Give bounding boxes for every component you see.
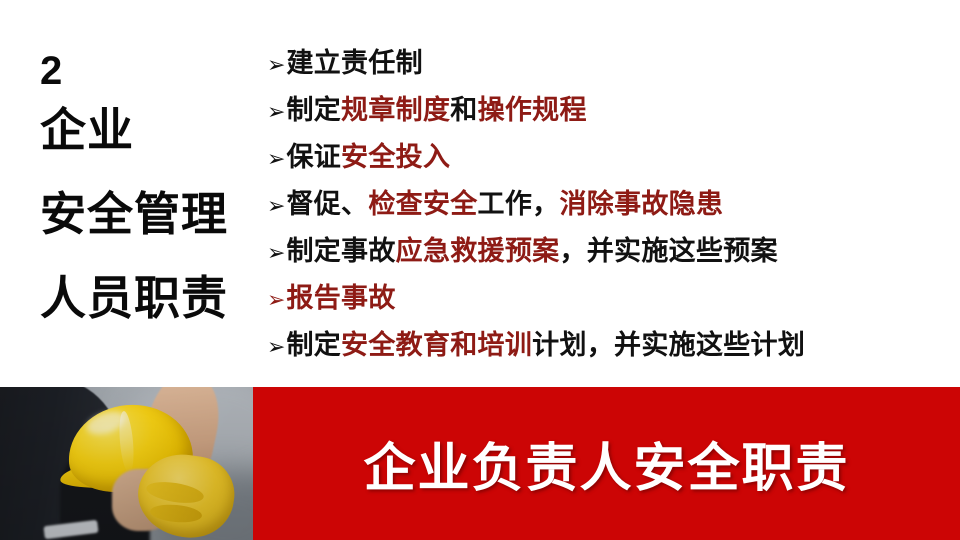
heading-line-1: 企业 [40, 102, 255, 158]
bullet-text-segment: 规章制度 [341, 95, 450, 125]
bullet-text-segment: 建立责任制 [286, 48, 423, 78]
hard-hat-photo [0, 387, 253, 540]
bullet-text: 制定事故应急救援预案，并实施这些预案 [286, 234, 777, 268]
responsibility-bullet-list: ➢建立责任制➢制定规章制度和操作规程➢保证安全投入➢督促、检查安全工作，消除事故… [267, 46, 947, 375]
slide-heading-block: 2 企业 安全管理 人员职责 [40, 48, 255, 326]
heading-line-2: 安全管理 [40, 186, 255, 242]
photo-vignette [0, 387, 253, 540]
bullet-text: 保证安全投入 [286, 140, 450, 174]
bullet-row: ➢制定规章制度和操作规程 [267, 93, 947, 140]
bullet-row: ➢督促、检查安全工作，消除事故隐患 [267, 187, 947, 234]
bullet-text: 制定规章制度和操作规程 [286, 93, 586, 127]
bullet-text-segment: 消除事故隐患 [559, 189, 723, 219]
bullet-text: 制定安全教育和培训计划，并实施这些计划 [286, 328, 805, 362]
banner-title-container: 企业负责人安全职责 [253, 387, 960, 540]
bullet-text: 督促、检查安全工作，消除事故隐患 [286, 187, 723, 221]
bullet-arrow-icon: ➢ [267, 238, 285, 268]
bullet-row: ➢报告事故 [267, 281, 947, 328]
bullet-text: 建立责任制 [286, 46, 423, 80]
heading-line-3: 人员职责 [40, 270, 255, 326]
bullet-text-segment: 制定事故 [286, 236, 395, 266]
bullet-text: 报告事故 [286, 281, 395, 315]
bullet-text-segment: 保证 [286, 142, 341, 172]
presentation-slide: 2 企业 安全管理 人员职责 ➢建立责任制➢制定规章制度和操作规程➢保证安全投入… [0, 0, 960, 540]
bullet-text-segment: 安全投入 [341, 142, 450, 172]
bullet-text-segment: 安全教育和培训 [341, 330, 532, 360]
bullet-text-segment: 报告事故 [286, 283, 395, 313]
bullet-row: ➢保证安全投入 [267, 140, 947, 187]
bullet-text-segment: 工作 [478, 189, 533, 219]
bullet-arrow-icon: ➢ [267, 97, 285, 127]
slide-bottom-banner: 企业负责人安全职责 [0, 387, 960, 540]
bullet-row: ➢建立责任制 [267, 46, 947, 93]
bullet-row: ➢制定事故应急救援预案，并实施这些预案 [267, 234, 947, 281]
bullet-text-segment: 督促、 [286, 189, 368, 219]
bullet-arrow-icon: ➢ [267, 144, 285, 174]
bullet-text-segment: 制定 [286, 330, 341, 360]
bullet-arrow-icon: ➢ [267, 191, 285, 221]
banner-title-text: 企业负责人安全职责 [363, 426, 849, 501]
bullet-arrow-icon: ➢ [267, 285, 285, 315]
bullet-arrow-icon: ➢ [267, 332, 285, 362]
bullet-text-segment: 和 [450, 95, 477, 125]
bullet-text-segment: ，并实施这些预案 [559, 236, 777, 266]
bullet-text-segment: 检查安全 [368, 189, 477, 219]
slide-upper-content: 2 企业 安全管理 人员职责 ➢建立责任制➢制定规章制度和操作规程➢保证安全投入… [0, 0, 960, 387]
bullet-text-segment: ， [532, 189, 559, 219]
bullet-text-segment: 应急救援预案 [396, 236, 560, 266]
bullet-row: ➢制定安全教育和培训计划，并实施这些计划 [267, 328, 947, 375]
bullet-text-segment: 操作规程 [478, 95, 587, 125]
bullet-text-segment: 制定 [286, 95, 341, 125]
bullet-arrow-icon: ➢ [267, 50, 285, 80]
bullet-text-segment: 计划，并实施这些计划 [532, 330, 805, 360]
heading-number: 2 [40, 48, 255, 94]
